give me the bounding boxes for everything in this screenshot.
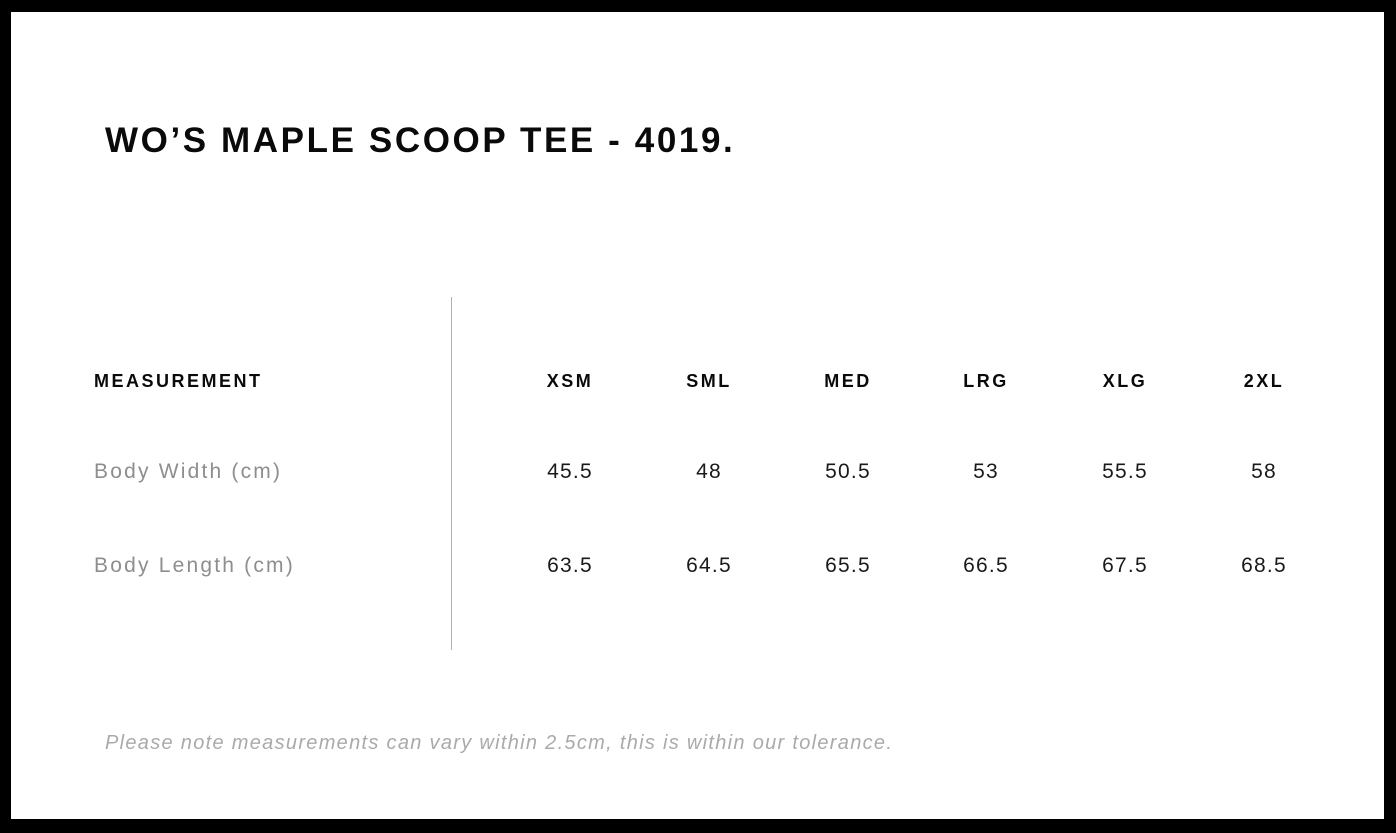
cell-body-width-2xl: 58: [1189, 455, 1339, 489]
column-header-size-1: SML: [634, 364, 784, 398]
column-header-size-3: LRG: [911, 364, 1061, 398]
cell-body-width-xlg: 55.5: [1050, 455, 1200, 489]
column-header-size-2: MED: [773, 364, 923, 398]
cell-body-length-xlg: 67.5: [1050, 549, 1200, 583]
column-header-size-4: XLG: [1050, 364, 1200, 398]
cell-body-width-med: 50.5: [773, 455, 923, 489]
cell-body-width-sml: 48: [634, 455, 784, 489]
cell-body-length-xsm: 63.5: [495, 549, 645, 583]
column-header-measurement: MEASUREMENT: [94, 364, 434, 398]
table-header-row: MEASUREMENT XSM SML MED LRG XLG 2XL: [11, 364, 1384, 398]
cell-body-length-2xl: 68.5: [1189, 549, 1339, 583]
column-header-size-0: XSM: [495, 364, 645, 398]
cell-body-width-xsm: 45.5: [495, 455, 645, 489]
table-row: Body Length (cm) 63.5 64.5 65.5 66.5 67.…: [11, 549, 1384, 583]
tolerance-note: Please note measurements can vary within…: [105, 728, 893, 758]
cell-body-length-med: 65.5: [773, 549, 923, 583]
cell-body-width-lrg: 53: [911, 455, 1061, 489]
cell-body-length-lrg: 66.5: [911, 549, 1061, 583]
size-chart-page: WO’S MAPLE SCOOP TEE - 4019. MEASUREMENT…: [0, 0, 1396, 833]
size-table: MEASUREMENT XSM SML MED LRG XLG 2XL Body…: [11, 12, 1384, 819]
column-header-size-5: 2XL: [1189, 364, 1339, 398]
chart-card: WO’S MAPLE SCOOP TEE - 4019. MEASUREMENT…: [11, 12, 1384, 819]
table-row: Body Width (cm) 45.5 48 50.5 53 55.5 58: [11, 455, 1384, 489]
row-label-body-width: Body Width (cm): [94, 455, 434, 489]
row-label-body-length: Body Length (cm): [94, 549, 434, 583]
cell-body-length-sml: 64.5: [634, 549, 784, 583]
